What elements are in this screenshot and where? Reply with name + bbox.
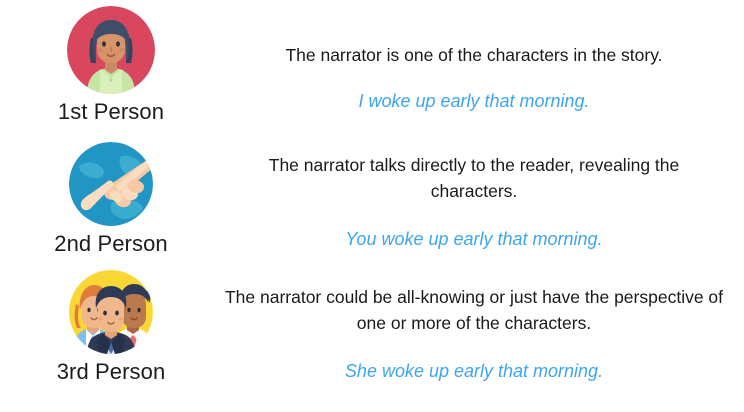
- badge-second-person: [69, 142, 153, 226]
- person-label-second: 2nd Person: [54, 230, 168, 258]
- example-third-person: She woke up early that morning.: [345, 358, 603, 384]
- woman-avatar-icon: [67, 6, 155, 94]
- icon-column-third-person: 3rd Person: [0, 270, 222, 386]
- text-column-first-person: The narrator is one of the characters in…: [222, 6, 744, 114]
- definition-third-person: The narrator could be all-knowing or jus…: [224, 284, 724, 336]
- icon-column-second-person: 2nd Person: [0, 142, 222, 258]
- badge-first-person: [67, 6, 155, 94]
- pointing-hand-icon: [69, 142, 153, 226]
- group-of-people-icon: [69, 270, 153, 354]
- pov-row-first-person: 1st Person The narrator is one of the ch…: [0, 6, 744, 142]
- person-label-first: 1st Person: [58, 98, 164, 126]
- badge-third-person: [69, 270, 153, 354]
- pov-row-third-person: 3rd Person The narrator could be all-kno…: [0, 270, 744, 406]
- point-of-view-diagram: 1st Person The narrator is one of the ch…: [0, 0, 744, 412]
- person-label-third: 3rd Person: [57, 358, 166, 386]
- definition-second-person: The narrator talks directly to the reade…: [224, 152, 724, 204]
- example-first-person: I woke up early that morning.: [358, 88, 589, 114]
- definition-first-person: The narrator is one of the characters in…: [285, 42, 662, 68]
- text-column-second-person: The narrator talks directly to the reade…: [222, 142, 744, 252]
- text-column-third-person: The narrator could be all-knowing or jus…: [222, 270, 744, 384]
- pov-row-second-person: 2nd Person The narrator talks directly t…: [0, 142, 744, 270]
- icon-column-first-person: 1st Person: [0, 6, 222, 126]
- example-second-person: You woke up early that morning.: [345, 226, 602, 252]
